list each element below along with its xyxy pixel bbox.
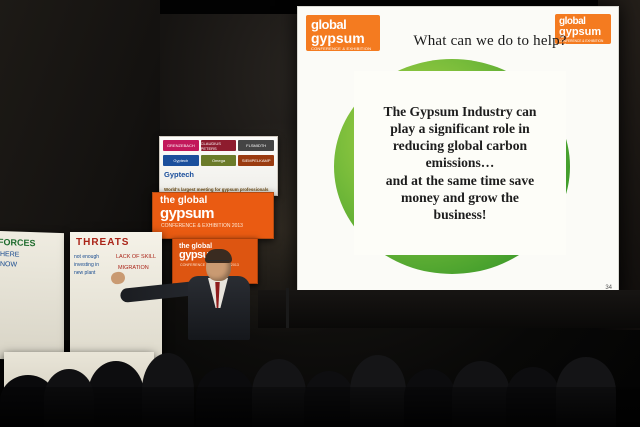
banner-line3: CONFERENCE & EXHIBITION 2013 [153, 221, 273, 229]
global-gypsum-logo-top-left: global gypsum CONFERENCE & EXHIBITION 20… [306, 15, 380, 51]
flipchart-left-line-2: HERE [0, 251, 19, 259]
flipchart-center-heading: THREATS [76, 237, 129, 248]
msg-line-4: emissions… [384, 154, 537, 171]
slide-message-box: The Gypsum Industry can play a significa… [354, 71, 566, 255]
msg-line-2: play a significant role in [384, 120, 537, 137]
speaker-glasses [207, 260, 229, 266]
flipchart-left-line-3: NOW [0, 261, 17, 269]
msg-line-5: and at the same time save [384, 172, 537, 189]
flipchart-left-line-1: FORCES [0, 237, 36, 248]
sponsor-logo: Gyptech [163, 155, 199, 166]
sponsor-logo: Omega [201, 155, 237, 166]
msg-line-7: business! [384, 206, 537, 223]
flipchart-center-line-2: investing in [74, 262, 99, 268]
msg-line-6: money and grow the [384, 189, 537, 206]
logo-line1: global [306, 15, 380, 31]
projection-screen: global gypsum CONFERENCE & EXHIBITION 20… [297, 6, 619, 297]
sponsor-logo: CLAUDIUS PETERS [201, 140, 237, 151]
flipchart-center-line-3: new plant [74, 270, 95, 276]
sponsor-logo: FLSMIDTH [238, 140, 274, 151]
orange-banner-large: the global gypsum CONFERENCE & EXHIBITIO… [152, 192, 274, 239]
flipchart-center-line-1: not enough [74, 254, 99, 260]
sponsor-logo: GRENZEBACH [163, 140, 199, 151]
slide-title: What can we do to help? [376, 33, 604, 50]
logo-subtitle: CONFERENCE & EXHIBITION 2013 [306, 45, 380, 51]
slide-message-text: The Gypsum Industry can play a significa… [378, 103, 543, 223]
sponsor-logo-grid: GRENZEBACH CLAUDIUS PETERS FLSMIDTH Gypt… [163, 140, 274, 167]
flipchart-center-line-5: MIGRATION [118, 265, 149, 271]
sponsor-logo: SIEMPELKAMP [238, 155, 274, 166]
gyptech-label: Gyptech [164, 170, 194, 179]
msg-line-1: The Gypsum Industry can [384, 103, 537, 120]
flipchart-center-line-4: LACK OF SKILL [116, 254, 156, 260]
foreground-shadow [0, 387, 640, 427]
banner-line2: gypsum [153, 206, 273, 221]
msg-line-3: reducing global carbon [384, 137, 537, 154]
logo-line2: gypsum [306, 31, 380, 45]
sponsor-board-banner: GRENZEBACH CLAUDIUS PETERS FLSMIDTH Gypt… [159, 136, 278, 196]
conference-photo: global gypsum CONFERENCE & EXHIBITION 20… [0, 0, 640, 427]
